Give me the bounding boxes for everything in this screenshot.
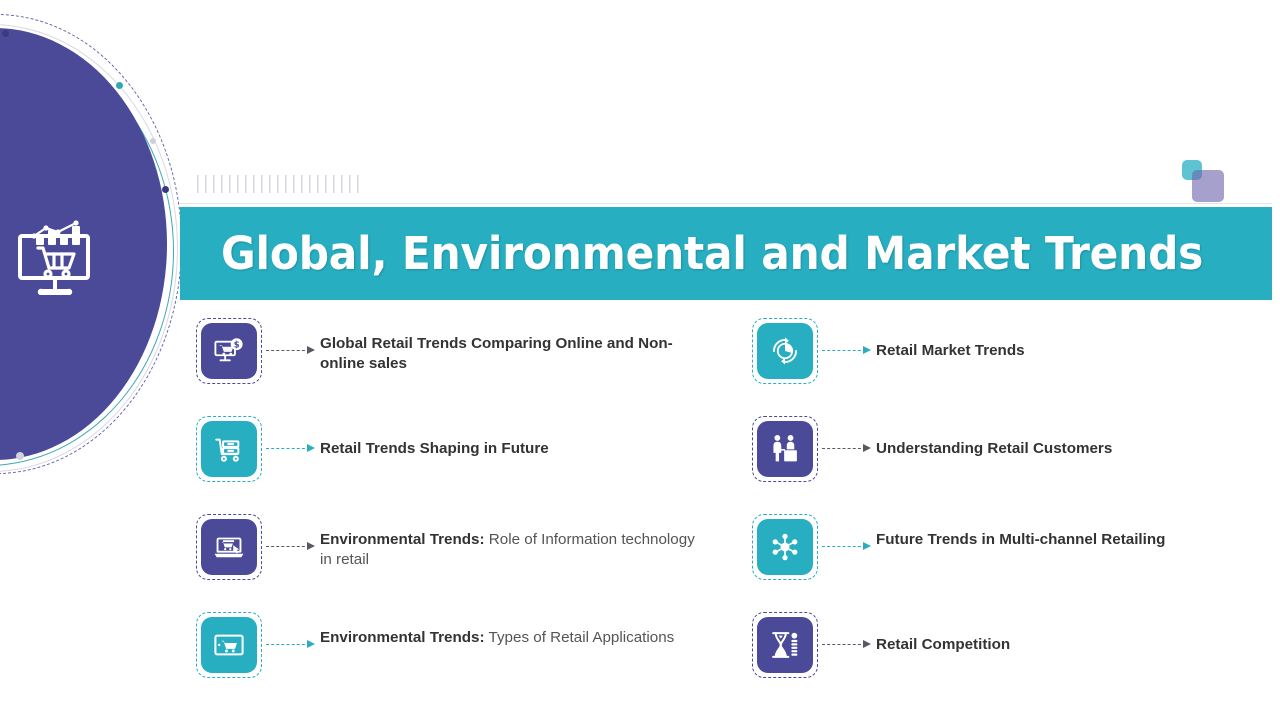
trend-item-label: Understanding Retail Customers xyxy=(876,416,1266,459)
arc-dot-top xyxy=(2,30,9,37)
connector-arrow-icon xyxy=(818,416,876,482)
connector-arrow-icon xyxy=(262,514,320,580)
trend-item-label-bold: Future Trends in Multi-channel Retailing xyxy=(876,531,1165,548)
trend-item[interactable]: Retail Market Trends xyxy=(752,318,1266,384)
connector-arrow-icon xyxy=(818,514,876,580)
arc-dot-bottom xyxy=(16,452,24,460)
connector-arrow-icon xyxy=(262,612,320,678)
trend-item-label-bold: Understanding Retail Customers xyxy=(876,440,1112,457)
icon-tile-global-retail-trends[interactable]: $ xyxy=(196,318,262,384)
trend-item-label-bold: Retail Market Trends xyxy=(876,342,1025,359)
trend-item-label-bold: Environmental Trends: xyxy=(320,531,485,548)
trend-item-label: Future Trends in Multi-channel Retailing xyxy=(876,514,1266,550)
page-title: Global, Environmental and Market Trends xyxy=(221,227,1203,280)
arc-dot-gray xyxy=(150,138,156,144)
trend-item[interactable]: Environmental Trends: Types of Retail Ap… xyxy=(196,612,710,678)
trend-item-label: Global Retail Trends Comparing Online an… xyxy=(320,318,710,373)
trend-item-label: Environmental Trends: Role of Informatio… xyxy=(320,514,710,569)
arc-dot-purple xyxy=(162,186,169,193)
trend-item-label-bold: Global Retail Trends Comparing Online an… xyxy=(320,335,673,372)
connector-arrow-icon xyxy=(262,318,320,384)
laptop-cart-cursor-icon xyxy=(201,519,257,575)
trend-item-label: Retail Competition xyxy=(876,612,1266,655)
trend-item[interactable]: Future Trends in Multi-channel Retailing xyxy=(752,514,1266,580)
trend-item-label-bold: Retail Competition xyxy=(876,636,1010,653)
trend-item[interactable]: Understanding Retail Customers xyxy=(752,416,1266,482)
shopping-trolley-icon xyxy=(201,421,257,477)
monitor-dollar-icon: $ xyxy=(201,323,257,379)
decorative-tick-marks xyxy=(197,175,365,193)
decorative-square-purple xyxy=(1192,170,1224,202)
trend-item[interactable]: Retail Trends Shaping in Future xyxy=(196,416,710,482)
header-divider-line xyxy=(180,203,1272,204)
trend-item-label-bold: Environmental Trends: xyxy=(320,629,485,646)
arc-dot-teal xyxy=(116,82,123,89)
purple-circle-shape xyxy=(0,28,167,460)
screen-cart-icon xyxy=(201,617,257,673)
network-hub-icon xyxy=(757,519,813,575)
icon-tile-retail-competition[interactable] xyxy=(752,612,818,678)
icon-tile-understanding-retail-customers[interactable] xyxy=(752,416,818,482)
trend-item-label: Retail Trends Shaping in Future xyxy=(320,416,710,459)
decorative-arc-dashed xyxy=(0,14,182,474)
decorative-arc-teal xyxy=(0,36,174,466)
trend-item[interactable]: $Global Retail Trends Comparing Online a… xyxy=(196,318,710,384)
monitor-cart-chart-icon xyxy=(14,218,102,306)
trend-item[interactable]: Environmental Trends: Role of Informatio… xyxy=(196,514,710,580)
trend-item-label: Retail Market Trends xyxy=(876,318,1266,361)
svg-text:$: $ xyxy=(234,341,240,351)
connector-arrow-icon xyxy=(818,318,876,384)
icon-tile-retail-trends-shaping-future[interactable] xyxy=(196,416,262,482)
trend-items-grid: $Global Retail Trends Comparing Online a… xyxy=(196,318,1266,678)
two-people-counter-icon xyxy=(757,421,813,477)
trend-item[interactable]: Retail Competition xyxy=(752,612,1266,678)
title-bar: Global, Environmental and Market Trends … xyxy=(180,207,1272,300)
trend-item-label: Environmental Trends: Types of Retail Ap… xyxy=(320,612,710,648)
icon-tile-future-trends-multichannel[interactable] xyxy=(752,514,818,580)
icon-tile-environmental-trends-it-role[interactable] xyxy=(196,514,262,580)
connector-arrow-icon xyxy=(262,416,320,482)
refresh-pie-chart-icon xyxy=(757,323,813,379)
icon-tile-environmental-trends-retail-apps[interactable] xyxy=(196,612,262,678)
decorative-arc-gray xyxy=(0,24,178,472)
trend-item-label-bold: Retail Trends Shaping in Future xyxy=(320,440,549,457)
hourglass-chart-icon xyxy=(757,617,813,673)
trend-item-label-normal: Types of Retail Applications xyxy=(485,629,675,646)
connector-arrow-icon xyxy=(818,612,876,678)
icon-tile-retail-market-trends[interactable] xyxy=(752,318,818,384)
decorative-squares xyxy=(1182,160,1232,202)
